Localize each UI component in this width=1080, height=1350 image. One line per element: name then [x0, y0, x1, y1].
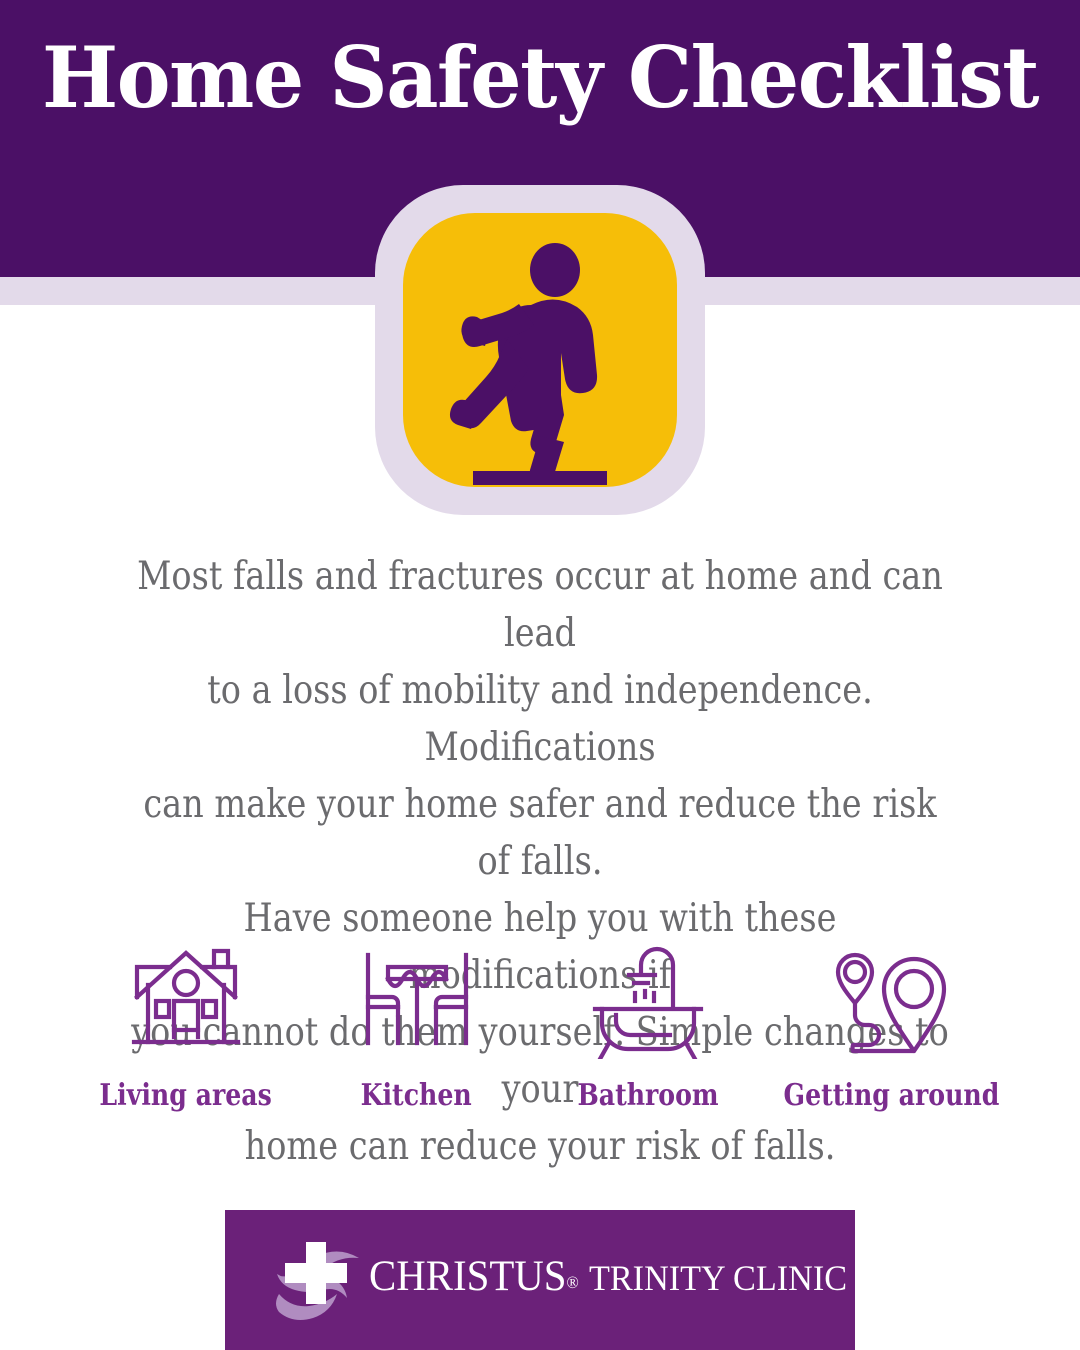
brand-lockup: CHRISTUS® TRINITY CLINIC [273, 1236, 872, 1322]
category-label: Kitchen [361, 1079, 472, 1113]
brand-name-christus: CHRISTUS [369, 1253, 566, 1300]
brand-wordmark: CHRISTUS® TRINITY CLINIC [369, 1255, 847, 1304]
intro-line: Most falls and fractures occur at home a… [127, 548, 953, 662]
category-item-living-areas[interactable]: Living areas [70, 938, 301, 1113]
registered-trademark-icon: ® [566, 1273, 578, 1292]
person-slipping-falling-icon [403, 213, 677, 487]
category-item-kitchen[interactable]: Kitchen [301, 938, 532, 1113]
category-item-bathroom[interactable]: Bathroom [532, 938, 763, 1113]
christus-cross-swoosh-logo-icon [273, 1236, 359, 1322]
intro-line: to a loss of mobility and independence. … [127, 662, 953, 776]
brand-name-trinity-clinic: TRINITY CLINIC [589, 1258, 847, 1298]
category-label: Getting around [784, 1079, 1000, 1113]
category-label: Living areas [99, 1079, 271, 1113]
footer-logo-bar: CHRISTUS® TRINITY CLINIC [225, 1210, 855, 1350]
category-row: Living areas [70, 938, 1020, 1133]
category-label: Bathroom [577, 1079, 718, 1113]
bathtub-with-shower-icon [587, 938, 709, 1063]
house-icon [126, 938, 246, 1063]
category-item-getting-around[interactable]: Getting around [763, 938, 1020, 1113]
map-pins-with-path-icon [828, 938, 956, 1063]
intro-line: can make your home safer and reduce the … [127, 776, 953, 890]
table-and-chairs-icon [358, 938, 476, 1063]
hero-icon [375, 185, 705, 515]
page-title: Home Safety Checklist [22, 36, 1059, 120]
